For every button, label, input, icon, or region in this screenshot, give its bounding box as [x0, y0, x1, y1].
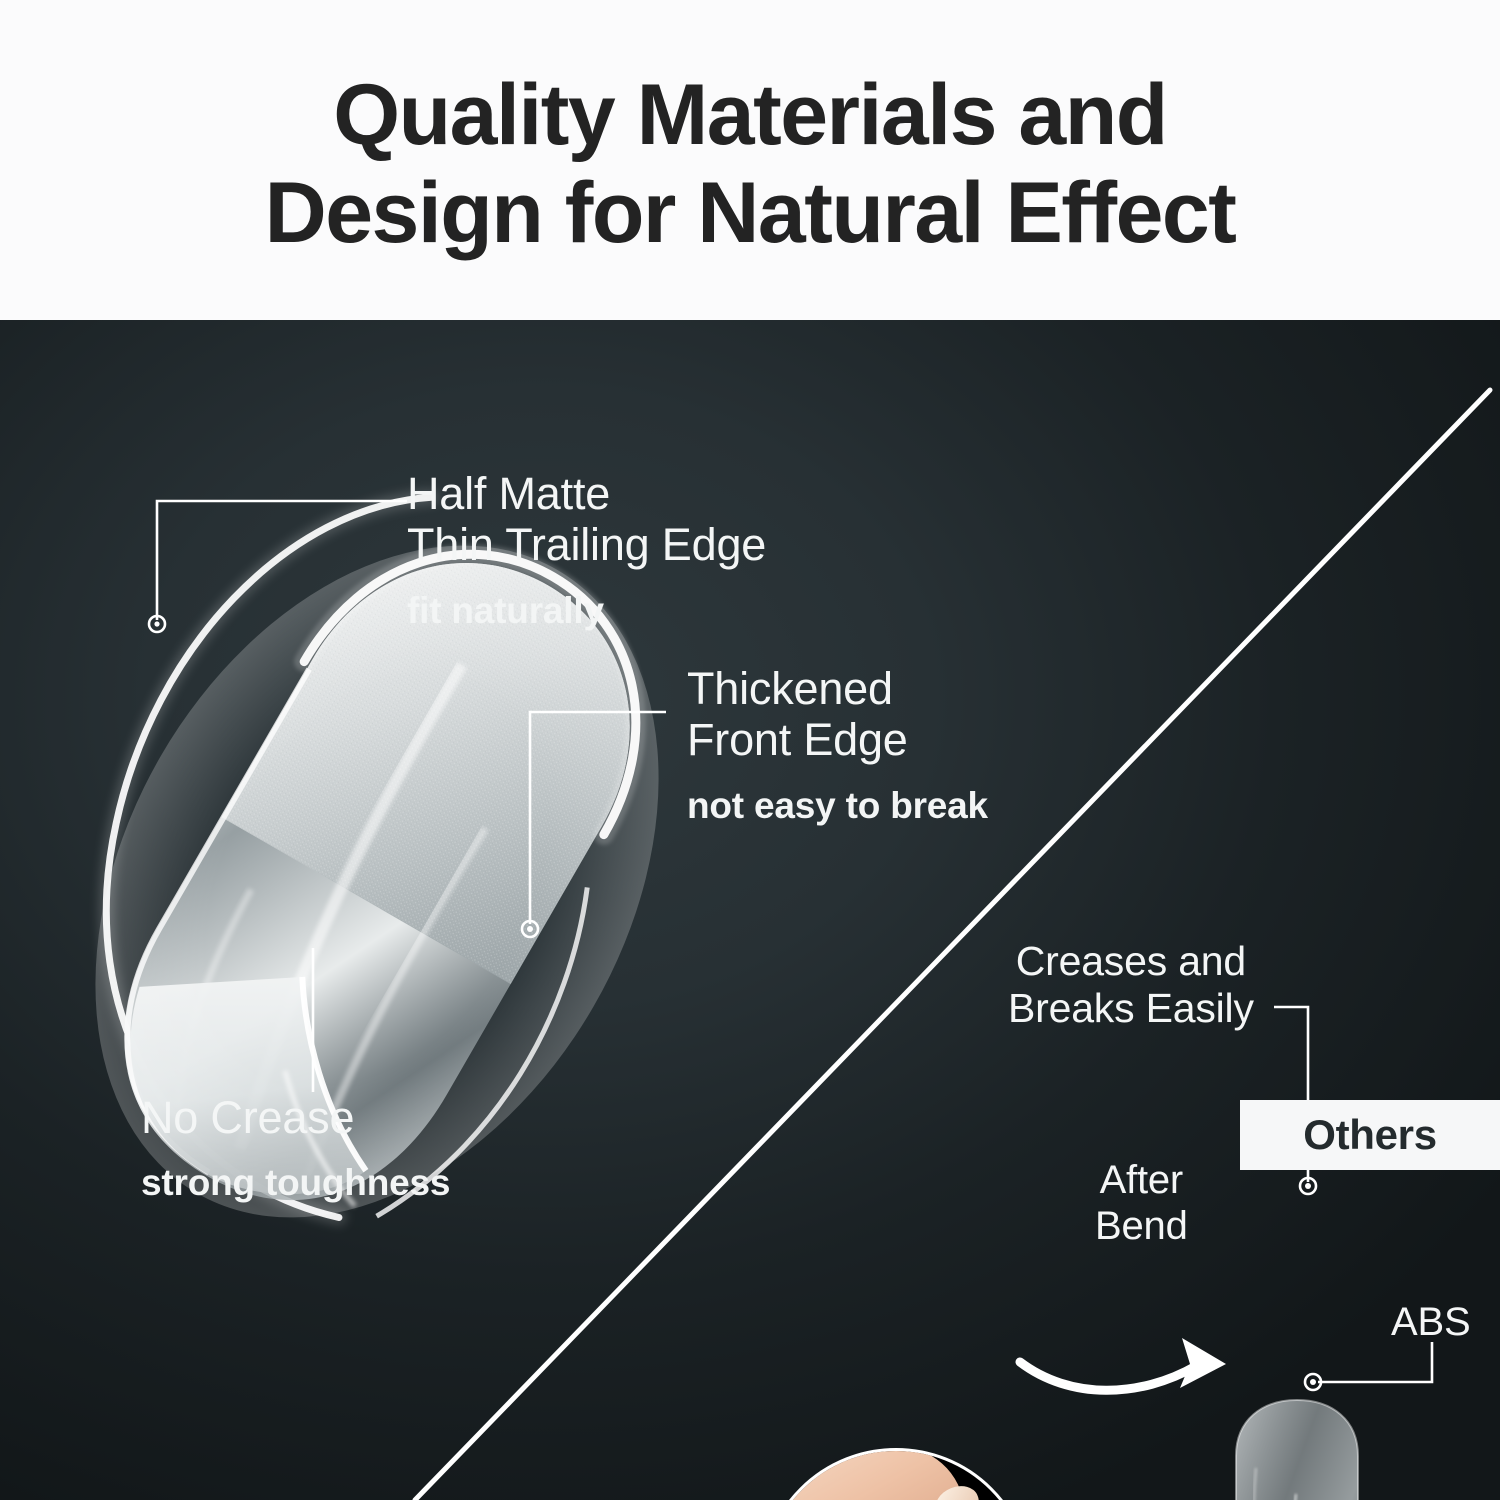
others-nail-illustration	[1222, 1398, 1372, 1500]
callout-thickened-sub: not easy to break	[687, 784, 988, 828]
callout-half-matte-heading: Half Matte Thin Trailing Edge	[407, 468, 766, 571]
page-title: Quality Materials and Design for Natural…	[0, 66, 1500, 262]
callout-no-crease-heading: No Crease	[141, 1092, 450, 1143]
callout-half-matte: Half Matte Thin Trailing Edge fit natura…	[407, 468, 766, 633]
callout-after-bend-heading: After Bend	[1095, 1158, 1188, 1249]
callout-thickened-front-edge: Thickened Front Edge not easy to break	[687, 663, 988, 828]
callout-abs: ABS	[1391, 1300, 1470, 1346]
callout-after-bend: After Bend	[1095, 1158, 1188, 1249]
abs-nail-graphic	[1222, 1398, 1372, 1500]
callout-half-matte-sub: fit naturally	[407, 589, 766, 633]
badge-others: Others	[1240, 1100, 1500, 1170]
pinch-photo-inset	[760, 1448, 1032, 1500]
header-band: Quality Materials and Design for Natural…	[0, 0, 1500, 320]
callout-thickened-heading: Thickened Front Edge	[687, 663, 988, 766]
infographic-page: Quality Materials and Design for Natural…	[0, 0, 1500, 1500]
callout-creases-breaks: Creases and Breaks Easily	[1008, 938, 1254, 1031]
callout-no-crease: No Crease strong toughness	[141, 1092, 450, 1206]
callout-abs-heading: ABS	[1391, 1300, 1470, 1346]
callout-creases-heading: Creases and Breaks Easily	[1008, 938, 1254, 1031]
callout-no-crease-sub: strong toughness	[141, 1161, 450, 1205]
finger-top	[760, 1448, 972, 1500]
